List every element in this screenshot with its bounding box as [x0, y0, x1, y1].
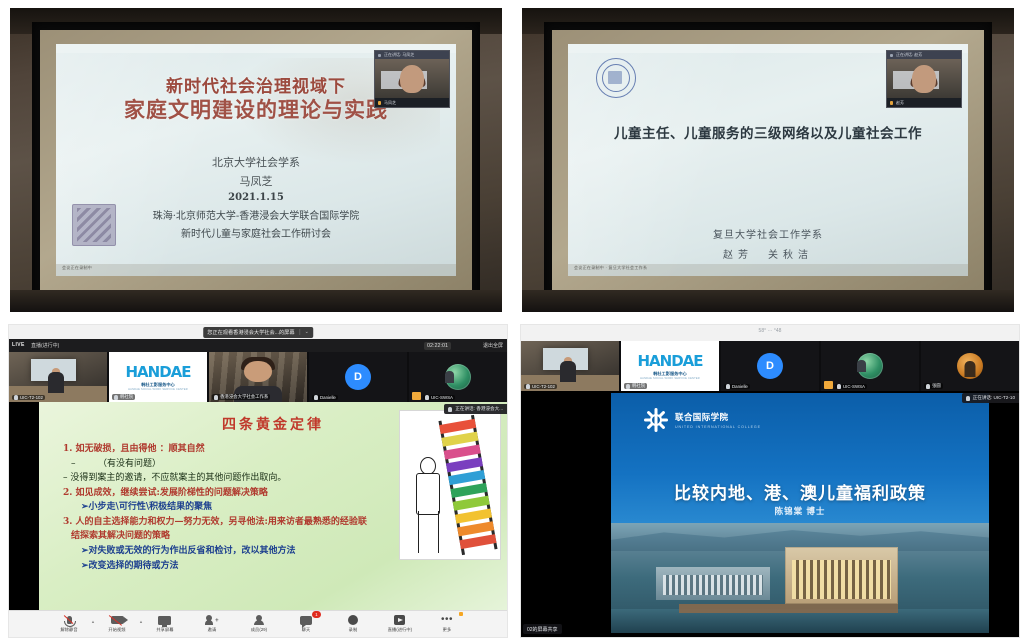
golden-rules-slide: 四条黄金定律 1. 如无破损，且由得他 ：顺其自然 – （有没有问题） – 没得… — [39, 402, 507, 611]
globe-avatar-icon — [857, 353, 883, 379]
pip-video-feed — [375, 59, 449, 98]
participants-label: 成员(29) — [251, 627, 267, 633]
pip-titlebar-text-2: 正在讲话: 赵芳 — [896, 52, 922, 58]
pip-participant-name: 马凤芝 — [384, 100, 396, 106]
slide2-department: 复旦大学社会工作学系 — [568, 226, 968, 241]
participant-name-label: UIC-SWSA — [835, 384, 867, 389]
zoom-control-toolbar[interactable]: 解除静音 ▲ 开始视频 ▲ 共享屏幕 + 邀请 成员(29 — [9, 610, 507, 637]
pip-titlebar-text: 正在讲话: 马凤芝 — [384, 52, 414, 58]
slide-line: 结探索其解决问题的策略 — [63, 529, 397, 544]
participant-name: UIC-SWSA — [843, 384, 865, 389]
slide-line: – 没得到案主的邀请，不应就案主的其他问题作出取向。 — [63, 471, 397, 486]
uic-logo-en: UNITED INTERNATIONAL COLLEGE — [675, 425, 761, 429]
live-stream-label: 直播(进行中) — [388, 627, 412, 633]
exit-fullscreen-button[interactable]: 退出全屏 — [483, 342, 503, 349]
zoom-meeting-window: 您正在观看香港浸会大学社会...的屏幕 ⌄ LIVE 直播(进行中) 02:22… — [8, 324, 508, 638]
slide-line: – （有没有问题） — [63, 457, 397, 472]
share-screen-button[interactable]: 共享屏幕 — [147, 612, 183, 636]
pip-person-face — [400, 65, 424, 93]
slide2-title: 儿童主任、儿童服务的三级网络以及儿童社会工作 — [568, 122, 968, 142]
ladder-rung — [459, 534, 496, 549]
screen-mat-2: 儿童主任、儿童服务的三级网络以及儿童社会工作 复旦大学社会工作学系 赵芳 关秋洁… — [552, 30, 984, 292]
climbing-figure — [408, 457, 448, 553]
tile-person-body — [560, 361, 576, 382]
chat-icon — [299, 615, 313, 626]
mic-off-icon — [62, 615, 76, 626]
avatar: D — [757, 353, 783, 379]
person-avatar-icon — [957, 353, 983, 379]
invite-button[interactable]: + 邀请 — [194, 612, 230, 636]
unmute-button[interactable]: 解除静音 — [51, 612, 87, 636]
participants-button[interactable]: 成员(29) — [241, 612, 277, 636]
presenter-webcam-pip-2: 正在讲话: 赵芳 赵芳 — [886, 50, 962, 108]
slide2-meta-block: 复旦大学社会工作学系 赵芳 关秋洁 — [568, 226, 968, 261]
participant-name: UIC-SWSA — [431, 395, 453, 400]
active-speaker-text: 正在讲话: UIC-T2-10 — [973, 395, 1015, 401]
microphone-icon — [448, 407, 452, 412]
handae-logo-sub2: HANDAE SOCIAL WORK SERVICE CENTER — [640, 377, 700, 380]
chevron-down-icon[interactable]: ⌄ — [300, 329, 309, 335]
participant-tile[interactable]: HANDAE 韩社工影服务中心 HANDAE SOCIAL WORK SERVI… — [109, 352, 207, 402]
participant-tile[interactable]: UIC-SWSA — [821, 341, 919, 391]
slide2-authors: 赵芳 关秋洁 — [568, 246, 968, 261]
uic-logo-text: 联合国际学院 UNITED INTERNATIONAL COLLEGE — [675, 411, 761, 429]
participant-tile[interactable]: UIC-T2-102 — [9, 352, 107, 402]
participant-name: Danielle — [320, 395, 336, 400]
participant-name-label: 韩社院 — [112, 394, 135, 400]
pip-person-face-2 — [912, 65, 936, 93]
lecture-room-photo-2: 儿童主任、儿童服务的三级网络以及儿童社会工作 复旦大学社会工作学系 赵芳 关秋洁… — [522, 8, 1014, 312]
viewing-share-text: 您正在观看香港浸会大学社会...的屏幕 — [207, 329, 294, 336]
pip-video-feed-2 — [887, 59, 961, 98]
shared-screen-stage-2: 联合国际学院 UNITED INTERNATIONAL COLLEGE 比较内地… — [521, 391, 1019, 637]
handae-logo-sub: 韩社工影服务中心 — [141, 382, 175, 388]
start-video-button[interactable]: 开始视频 — [99, 612, 135, 636]
slide1-meta-block: 北京大学社会学系 马凤芝 2021.1.15 珠海·北京师范大学-香港浸会大学联… — [56, 154, 456, 243]
active-speaker-text: 正在讲话: 香港浸会大... — [455, 406, 503, 412]
decorative-seal-stamp — [72, 204, 116, 246]
participant-tile[interactable]: HANDAE 韩社工影服务中心 HANDAE SOCIAL WORK SERVI… — [621, 341, 719, 391]
figure-legs — [418, 511, 439, 553]
microphone-icon — [926, 384, 930, 389]
fudan-university-emblem — [596, 58, 636, 98]
record-icon — [346, 615, 360, 626]
panel-bottom-right: 58° ··· °48 UIC-T2-102 HANDAE 韩社工影服务中心 — [512, 320, 1024, 640]
participant-tile[interactable]: UIC-T2-102 — [521, 341, 619, 391]
share-screen-icon — [158, 615, 172, 626]
handae-logo-mark: HANDAE — [125, 363, 190, 381]
meeting-timer: 02:22:01 — [424, 342, 451, 350]
host-badge-icon — [824, 381, 833, 389]
slide-line: ➢改变选择的期待或方法 — [63, 559, 397, 574]
record-label: 录制 — [349, 627, 358, 633]
screenshot-collage: 新时代社会治理视域下 家庭文明建设的理论与实践 北京大学社会学系 马凤芝 202… — [0, 0, 1024, 640]
participant-filmstrip[interactable]: UIC-T2-102 HANDAE 韩社工影服务中心 HANDAE SOCIAL… — [9, 352, 507, 402]
microphone-icon — [425, 395, 429, 400]
slide1-footer-line1: 珠海·北京师范大学-香港浸会大学联合国际学院 — [56, 207, 456, 222]
camera-off-icon — [110, 615, 124, 626]
invite-icon: + — [205, 615, 219, 626]
live-icon — [393, 615, 407, 626]
panel-top-right: 儿童主任、儿童服务的三级网络以及儿童社会工作 复旦大学社会工作学系 赵芳 关秋洁… — [512, 0, 1024, 320]
slide-line: ➢小步走\可行性\积极结果的聚焦 — [63, 500, 397, 515]
microphone-icon — [837, 384, 841, 389]
campus-building-left — [656, 567, 769, 600]
tile-person-body — [48, 372, 64, 393]
share-screen-label: 共享屏幕 — [156, 627, 173, 633]
pip-name-bar-2: 赵芳 — [887, 98, 961, 107]
slide1-status-text: 会议正在录制中 — [62, 265, 92, 271]
slide-line: 3. 人的自主选择能力和权力—努力无效，另寻他法:用来访者最熟悉的经验联 — [63, 515, 397, 530]
more-icon: ••• — [440, 615, 454, 626]
participant-name: 张圆 — [932, 383, 941, 389]
microphone-icon — [314, 395, 318, 400]
zoom-titlebar: 您正在观看香港浸会大学社会...的屏幕 ⌄ — [9, 325, 507, 339]
slide1-presenter: 马凤芝 — [56, 173, 456, 189]
pip-name-bar: 马凤芝 — [375, 98, 449, 107]
slide1-date: 2021.1.15 — [56, 192, 456, 203]
slide-line: 2. 如见成效，继续尝试:发展阶梯性的问题解决策略 — [63, 486, 397, 501]
pip-titlebar: 正在讲话: 马凤芝 — [375, 51, 449, 59]
participant-tile[interactable]: UIC-SWSA — [409, 352, 507, 402]
slide-body: 1. 如无破损，且由得他 ：顺其自然 – （有没有问题） – 没得到案主的邀请，… — [63, 442, 397, 573]
participant-name-label: UIC-T2-102 — [524, 384, 557, 389]
participant-name-label: Danielle — [724, 384, 750, 389]
zoom-titlebar-2: 58° ··· °48 — [521, 325, 1019, 341]
chevron-up-icon[interactable]: ▲ — [91, 619, 95, 629]
unmute-label: 解除静音 — [60, 627, 77, 633]
start-video-label: 开始视频 — [108, 627, 125, 633]
participant-tile[interactable]: D Danielle — [309, 352, 407, 402]
projection-screen-frame: 新时代社会治理视域下 家庭文明建设的理论与实践 北京大学社会学系 马凤芝 202… — [32, 22, 480, 300]
active-speaker-badge-2: 正在讲话: UIC-T2-10 — [962, 393, 1019, 403]
screen-share-label: 02的屏幕共享 — [523, 624, 562, 634]
chat-button[interactable]: 1 聊天 — [288, 612, 324, 636]
campus-building-main — [785, 547, 898, 604]
handae-logo-mark: HANDAE — [637, 352, 702, 370]
handae-logo-sub2: HANDAE SOCIAL WORK SERVICE CENTER — [128, 388, 188, 391]
microphone-icon — [726, 384, 730, 389]
slide1-organization: 北京大学社会学系 — [56, 154, 456, 170]
titlebar-note: 58° ··· °48 — [521, 328, 1019, 334]
live-stream-button[interactable]: 直播(进行中) — [382, 612, 418, 636]
live-status-text: 直播(进行中) — [31, 342, 59, 349]
participant-tile[interactable]: D Danielle — [721, 341, 819, 391]
more-notification-dot — [459, 612, 463, 616]
pip-titlebar-2: 正在讲话: 赵芳 — [887, 51, 961, 59]
campus-photo — [611, 523, 989, 633]
handae-logo-sub: 韩社工影服务中心 — [653, 371, 687, 377]
microphone-icon — [214, 395, 218, 400]
projection-screen-frame-2: 儿童主任、儿童服务的三级网络以及儿童社会工作 复旦大学社会工作学系 赵芳 关秋洁… — [544, 22, 992, 300]
slide2-status-bar: 会议正在录制中 · 复旦大学社会工作系 — [568, 264, 968, 276]
participant-tile[interactable]: 香港浸会大学社会工作系 — [209, 352, 307, 402]
participant-name-label: Danielle — [312, 395, 338, 400]
participant-name-label: 韩社院 — [624, 383, 647, 389]
live-badge: LIVE — [12, 342, 25, 348]
record-button[interactable]: 录制 — [335, 612, 371, 636]
participant-name-label: 香港浸会大学社会工作系 — [212, 394, 270, 400]
participant-tile[interactable]: 张圆 — [921, 341, 1019, 391]
zoom-meeting-window-2: 58° ··· °48 UIC-T2-102 HANDAE 韩社工影服务中心 — [520, 324, 1020, 638]
more-label: 更多 — [443, 627, 452, 633]
participant-name: Danielle — [732, 384, 748, 389]
participant-name-label: UIC-T2-102 — [12, 395, 45, 400]
microphone-icon — [526, 384, 530, 389]
chevron-up-icon[interactable]: ▲ — [139, 619, 143, 629]
panel-bottom-left: 您正在观看香港浸会大学社会...的屏幕 ⌄ LIVE 直播(进行中) 02:22… — [0, 320, 512, 640]
chat-label: 聊天 — [302, 627, 311, 633]
campus-walkway — [679, 604, 898, 613]
participant-name: UIC-T2-102 — [20, 395, 43, 400]
participant-name: 韩社院 — [120, 394, 133, 400]
uic-logo: 联合国际学院 UNITED INTERNATIONAL COLLEGE — [643, 407, 761, 433]
active-speaker-badge: 正在讲话: 香港浸会大... — [444, 404, 507, 414]
participants-icon — [252, 615, 266, 626]
invite-label: 邀请 — [208, 627, 217, 633]
zoom-top-info-bar: LIVE 直播(进行中) 02:22:01 退出全屏 — [9, 339, 507, 352]
presenter-webcam-pip: 正在讲话: 马凤芝 马凤芝 — [374, 50, 450, 108]
microphone-icon — [626, 384, 630, 389]
ladder-illustration — [399, 410, 501, 560]
avatar: D — [345, 364, 371, 390]
participant-name-label: 张圆 — [924, 383, 943, 389]
participant-name: 韩社院 — [632, 383, 645, 389]
participant-name-label: UIC-SWSA — [423, 395, 455, 400]
host-badge-icon — [412, 392, 421, 400]
slide-line: 1. 如无破损，且由得他 ：顺其自然 — [63, 442, 397, 457]
participant-name: UIC-T2-102 — [532, 384, 555, 389]
participant-name: 香港浸会大学社会工作系 — [220, 394, 268, 400]
uic-logo-cn: 联合国际学院 — [675, 411, 761, 423]
slide1-status-bar: 会议正在录制中 — [56, 264, 456, 276]
microphone-icon — [14, 395, 18, 400]
uic-title-slide: 联合国际学院 UNITED INTERNATIONAL COLLEGE 比较内地… — [611, 393, 989, 633]
chat-unread-badge: 1 — [312, 611, 321, 618]
shared-screen-stage: 四条黄金定律 1. 如无破损，且由得他 ：顺其自然 – （有没有问题） – 没得… — [9, 402, 507, 611]
lecture-room-photo: 新时代社会治理视域下 家庭文明建设的理论与实践 北京大学社会学系 马凤芝 202… — [10, 8, 502, 312]
projected-slide-2: 儿童主任、儿童服务的三级网络以及儿童社会工作 复旦大学社会工作学系 赵芳 关秋洁… — [568, 44, 968, 276]
uic-snowflake-icon — [643, 407, 669, 433]
microphone-icon — [966, 396, 970, 401]
screen-mat: 新时代社会治理视域下 家庭文明建设的理论与实践 北京大学社会学系 马凤芝 202… — [40, 30, 472, 292]
participant-filmstrip-2[interactable]: UIC-T2-102 HANDAE 韩社工影服务中心 HANDAE SOCIAL… — [521, 341, 1019, 391]
pip-participant-name-2: 赵芳 — [896, 100, 904, 106]
slide-subtitle: 陈锦棠 博士 — [611, 505, 989, 517]
globe-avatar-icon — [445, 364, 471, 390]
viewing-share-pill[interactable]: 您正在观看香港浸会大学社会...的屏幕 ⌄ — [203, 327, 313, 338]
projected-slide-1: 新时代社会治理视域下 家庭文明建设的理论与实践 北京大学社会学系 马凤芝 202… — [56, 44, 456, 276]
slide-title: 比较内地、港、澳儿童福利政策 — [611, 479, 989, 504]
microphone-icon — [114, 395, 118, 400]
tile-person-head — [244, 361, 271, 382]
slide-line: ➢对失败或无效的行为作出反省和检讨，改以其他方法 — [63, 544, 397, 559]
figure-body — [416, 473, 440, 515]
slide2-status-text: 会议正在录制中 · 复旦大学社会工作系 — [574, 265, 647, 271]
panel-top-left: 新时代社会治理视域下 家庭文明建设的理论与实践 北京大学社会学系 马凤芝 202… — [0, 0, 512, 320]
slide1-footer-line2: 新时代儿童与家庭社会工作研讨会 — [56, 225, 456, 240]
more-options-button[interactable]: ••• 更多 — [429, 612, 465, 636]
